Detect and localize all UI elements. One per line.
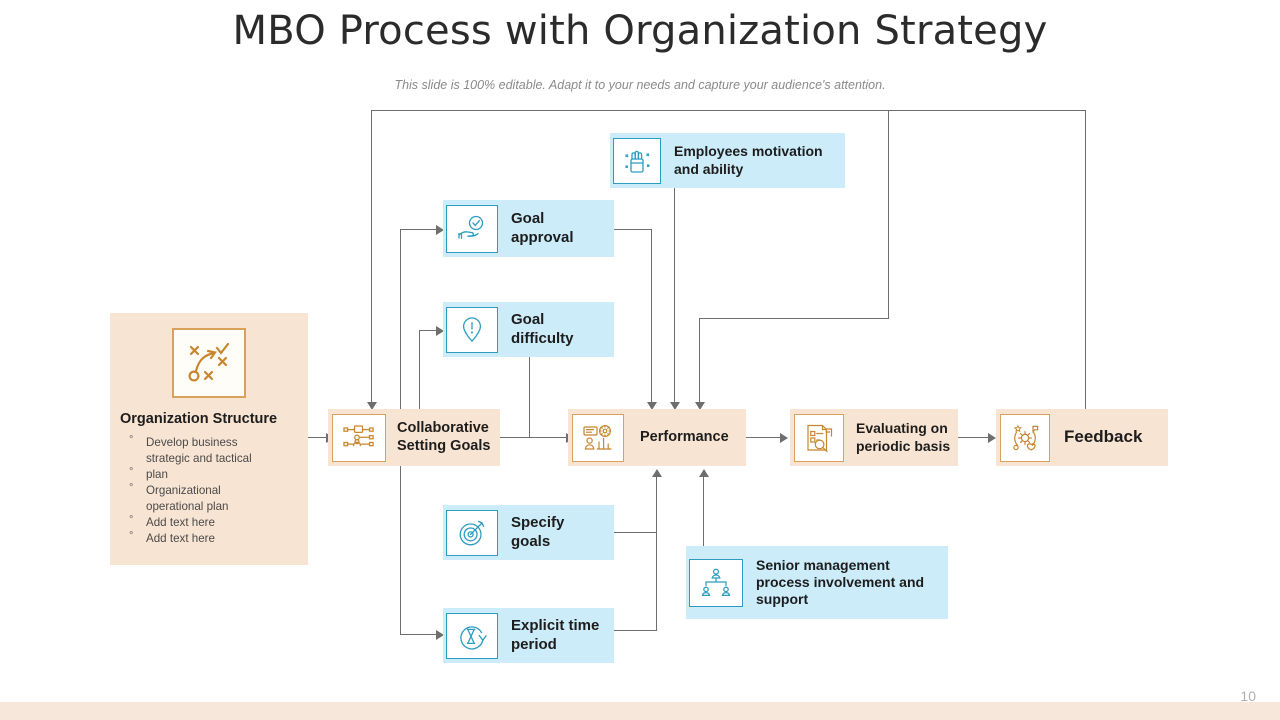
node-label: Goal difficulty <box>511 311 607 348</box>
hand-check-icon <box>446 205 498 253</box>
page-number: 10 <box>1240 688 1256 704</box>
node-specify-goals[interactable]: Specify goals <box>443 505 614 560</box>
connector-goalapproval-to-performance-v <box>651 229 652 406</box>
connector-collab-to-goalapproval-v <box>400 229 401 415</box>
strategy-playbook-icon <box>172 328 246 398</box>
node-explicit-time-period[interactable]: Explicit time period <box>443 608 614 663</box>
connector-collab-to-explicit-h <box>400 634 438 635</box>
connector-employees-to-performance <box>674 188 675 406</box>
node-goal-approval[interactable]: Goal approval <box>443 200 614 257</box>
organization-structure-panel[interactable]: Organization Structure Develop business … <box>110 313 308 565</box>
list-item: Organizational <box>120 483 306 499</box>
node-employees-motivation[interactable]: Employees motivation and ability <box>610 133 845 188</box>
connector-explicit-to-performance-v <box>656 477 657 631</box>
panel-title: Organization Structure <box>120 411 306 427</box>
connector-goaldifficulty-to-performance <box>529 437 568 438</box>
connector-collab-to-explicit-v <box>400 462 401 635</box>
list-item: Add text here <box>120 515 306 531</box>
connector-top-bus <box>371 110 1086 111</box>
page-title: MBO Process with Organization Strategy <box>0 8 1280 54</box>
connector-mid-to-performance-h <box>699 318 889 319</box>
node-label: Specify goals <box>511 514 607 551</box>
node-collaborative-setting-goals[interactable]: Collaborative Setting Goals <box>328 409 500 466</box>
node-label: Collaborative Setting Goals <box>397 420 500 455</box>
connector-collab-to-goalapproval-h <box>400 229 438 230</box>
connector-performance-to-evaluating <box>746 437 782 438</box>
panel-bullet-list: Develop business strategic and tactical … <box>120 435 306 547</box>
connector-collab-to-goaldifficulty-v <box>419 330 420 415</box>
connector-goalapproval-to-performance-h <box>614 229 652 230</box>
page-subtitle: This slide is 100% editable. Adapt it to… <box>0 78 1280 92</box>
node-goal-difficulty[interactable]: Goal difficulty <box>443 302 614 357</box>
node-label: Evaluating on periodic basis <box>856 420 956 454</box>
footer-bar <box>0 702 1280 720</box>
connector-feedback-to-bus <box>1085 110 1086 410</box>
connector-explicit-to-performance-h <box>614 630 656 631</box>
document-magnifier-icon <box>794 414 844 462</box>
arrowhead-into-performance-bottom-left <box>652 469 662 477</box>
performance-dashboard-icon <box>572 414 624 462</box>
node-evaluating-periodic[interactable]: Evaluating on periodic basis <box>790 409 958 466</box>
connector-top-to-collab <box>371 110 372 406</box>
node-label: Feedback <box>1064 427 1168 448</box>
hourglass-cycle-icon <box>446 613 498 659</box>
connector-panel-to-collab <box>308 437 328 438</box>
arrowhead-into-evaluating <box>780 433 788 443</box>
hierarchy-people-icon <box>689 559 743 607</box>
pin-exclamation-icon <box>446 307 498 353</box>
node-performance[interactable]: Performance <box>568 409 746 466</box>
list-item: strategic and tactical <box>120 451 306 467</box>
list-item: Develop business <box>120 435 306 451</box>
node-feedback[interactable]: Feedback <box>996 409 1168 466</box>
connector-goaldifficulty-down <box>529 357 530 437</box>
arrowhead-into-feedback <box>988 433 996 443</box>
slide-canvas: MBO Process with Organization Strategy T… <box>0 0 1280 720</box>
raised-fist-icon <box>613 138 661 184</box>
arrowhead-into-performance-bottom-right <box>699 469 709 477</box>
list-item: operational plan <box>120 499 306 515</box>
connector-specify-to-performance-h <box>614 532 656 533</box>
node-label: Senior management process involvement an… <box>756 557 936 608</box>
node-label: Explicit time period <box>511 617 611 654</box>
node-senior-management[interactable]: Senior management process involvement an… <box>686 546 948 619</box>
connector-bus-drop-mid <box>888 110 889 319</box>
list-item: Add text here <box>120 531 306 547</box>
org-network-icon <box>332 414 386 462</box>
list-item: plan <box>120 467 306 483</box>
connector-mid-to-performance-v <box>699 318 700 406</box>
target-dart-icon <box>446 510 498 556</box>
connector-evaluating-to-feedback <box>958 437 990 438</box>
node-label: Performance <box>640 429 745 447</box>
node-label: Goal approval <box>511 210 607 247</box>
gear-orbit-icon <box>1000 414 1050 462</box>
connector-senior-to-performance <box>703 477 704 549</box>
node-label: Employees motivation and ability <box>674 143 839 177</box>
